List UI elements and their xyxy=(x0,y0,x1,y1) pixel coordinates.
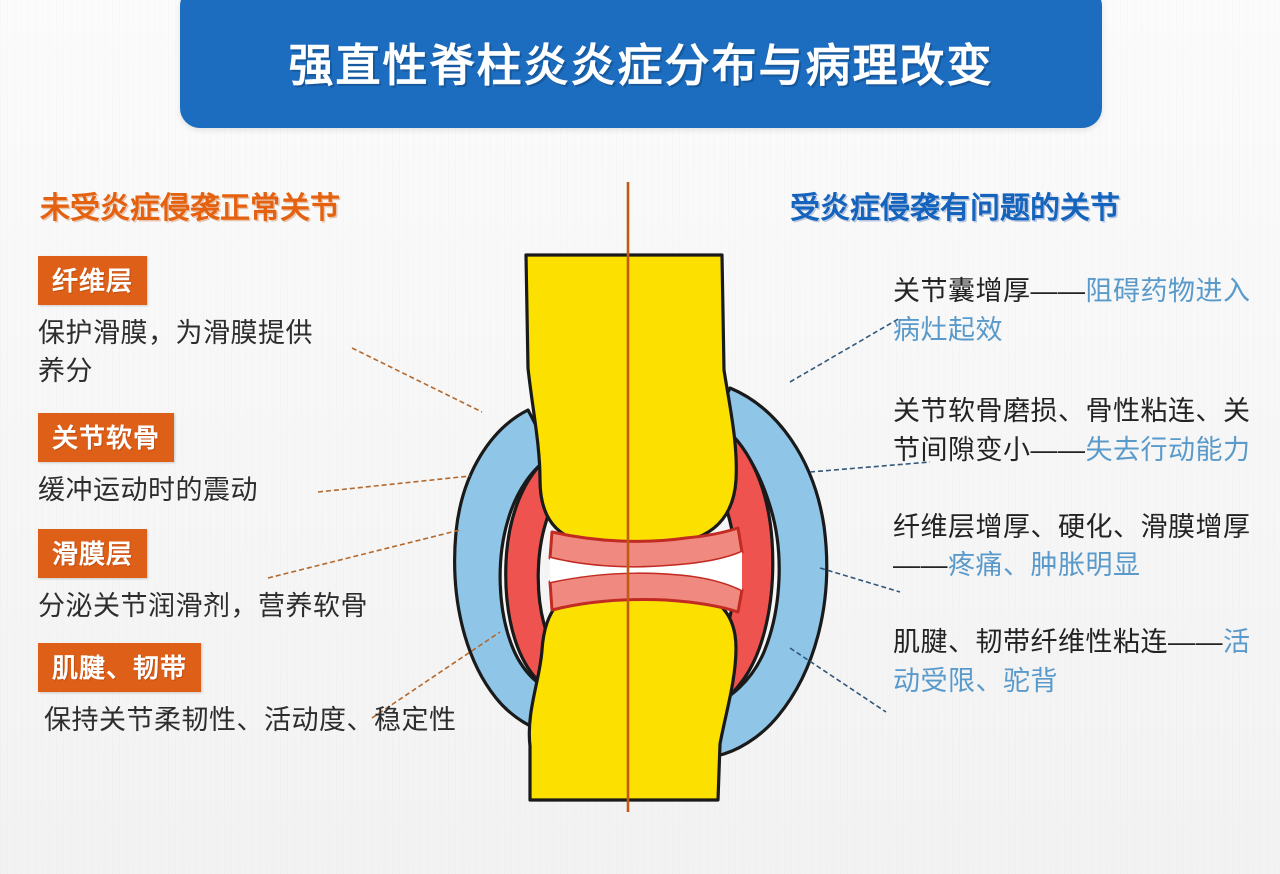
joint-anatomy-illustration xyxy=(400,160,900,840)
page-title: 强直性脊柱炎炎症分布与病理改变 xyxy=(288,29,993,94)
left-column: 纤维层 保护滑膜，为滑膜提供养分 关节软骨 缓冲运动时的震动 滑膜层 分泌关节润… xyxy=(38,256,468,748)
right-item-text: 纤维层增厚、硬化、滑膜增厚——疼痛、肿胀明显 xyxy=(893,508,1253,586)
left-item-description: 缓冲运动时的震动 xyxy=(38,471,438,509)
left-item-label: 纤维层 xyxy=(38,256,147,305)
right-item-text: 关节软骨磨损、骨性粘连、关节间隙变小——失去行动能力 xyxy=(893,392,1253,470)
left-item-label: 肌腱、韧带 xyxy=(38,643,201,692)
left-item-label: 滑膜层 xyxy=(38,529,147,578)
right-item-effect: 失去行动能力 xyxy=(1086,435,1251,465)
right-item-cause: 肌腱、韧带纤维性粘连—— xyxy=(893,627,1223,657)
right-item-tendon-adhesion: 肌腱、韧带纤维性粘连——活动受限、驼背 xyxy=(893,623,1253,701)
right-item-cause: 关节囊增厚—— xyxy=(893,276,1086,306)
title-banner: 强直性脊柱炎炎症分布与病理改变 xyxy=(180,0,1102,128)
right-item-cartilage-wear: 关节软骨磨损、骨性粘连、关节间隙变小——失去行动能力 xyxy=(893,392,1253,470)
lower-bone xyxy=(529,584,736,800)
left-item-tendon-ligament: 肌腱、韧带 保持关节柔韧性、活动度、稳定性 xyxy=(38,643,468,739)
right-item-fibrous-thickening: 纤维层增厚、硬化、滑膜增厚——疼痛、肿胀明显 xyxy=(893,508,1253,586)
right-item-effect: 疼痛、肿胀明显 xyxy=(948,550,1141,580)
left-item-description: 分泌关节润滑剂，营养软骨 xyxy=(38,587,438,625)
left-item-description: 保护滑膜，为滑膜提供养分 xyxy=(38,314,338,391)
right-item-capsule-thickening: 关节囊增厚——阻碍药物进入病灶起效 xyxy=(893,272,1253,350)
left-item-fibrous-layer: 纤维层 保护滑膜，为滑膜提供养分 xyxy=(38,256,468,391)
left-item-label: 关节软骨 xyxy=(38,413,174,462)
left-column-heading: 未受炎症侵袭正常关节 xyxy=(40,183,340,227)
left-item-articular-cartilage: 关节软骨 缓冲运动时的震动 xyxy=(38,413,468,509)
left-item-description: 保持关节柔韧性、活动度、稳定性 xyxy=(38,701,458,739)
right-column: 关节囊增厚——阻碍药物进入病灶起效 关节软骨磨损、骨性粘连、关节间隙变小——失去… xyxy=(893,272,1253,729)
right-item-text: 关节囊增厚——阻碍药物进入病灶起效 xyxy=(893,272,1253,350)
upper-bone xyxy=(526,255,736,548)
left-item-synovial-layer: 滑膜层 分泌关节润滑剂，营养软骨 xyxy=(38,529,468,625)
right-item-text: 肌腱、韧带纤维性粘连——活动受限、驼背 xyxy=(893,623,1253,701)
